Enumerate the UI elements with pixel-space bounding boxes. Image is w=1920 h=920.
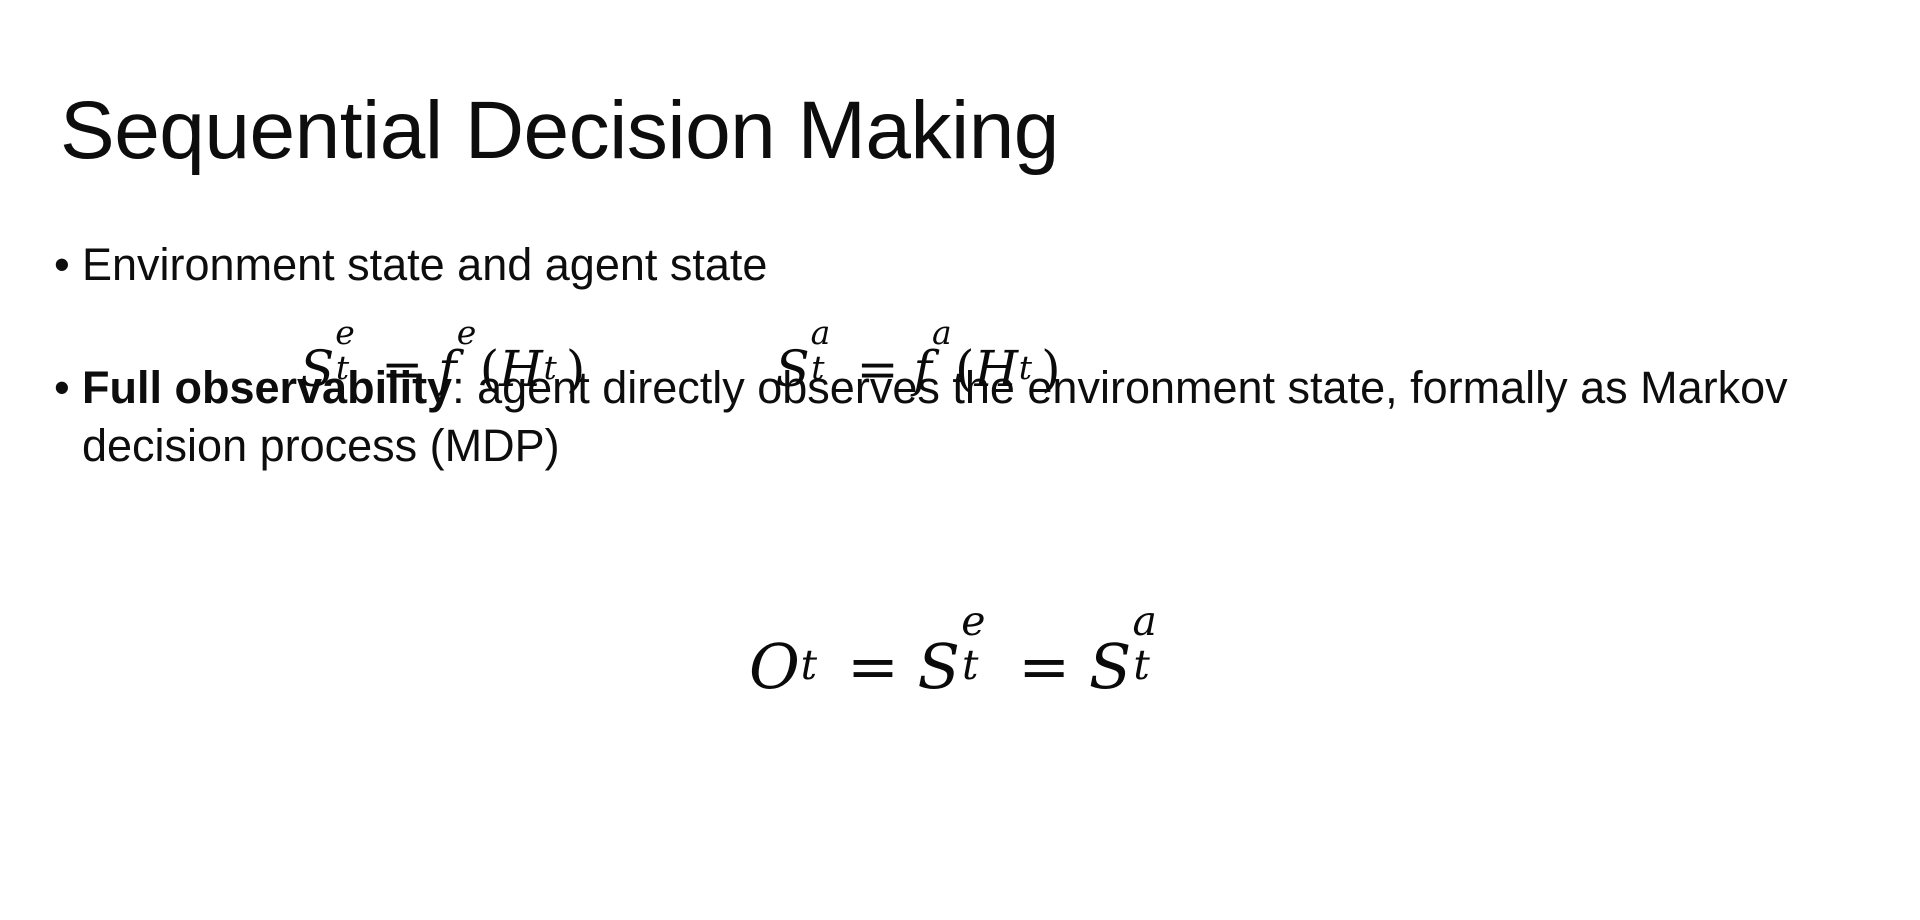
eq-lhs-subscript: t bbox=[336, 351, 349, 384]
page-title: Sequential Decision Making bbox=[60, 83, 1840, 180]
eq-rhs-function: f bbox=[914, 340, 933, 398]
equation-row-full-observability: Ot=Set=Sat bbox=[0, 626, 1920, 698]
eq-open-paren: ( bbox=[480, 340, 500, 398]
eq-observation-scripts: t bbox=[800, 626, 829, 688]
eq-operator-equals-2: = bbox=[1018, 630, 1070, 703]
bullet-text-environment-agent-state: Environment state and agent state bbox=[82, 236, 1834, 295]
slide-canvas: Sequential Decision Making • Environment… bbox=[0, 0, 1920, 920]
eq-lhs-scripts: et bbox=[335, 336, 366, 386]
eq-env-scripts: et bbox=[961, 626, 999, 688]
eq-env-base: S bbox=[918, 630, 960, 703]
eq-lhs-superscript: e bbox=[335, 316, 355, 349]
eq-agent-base: S bbox=[1089, 630, 1131, 703]
eq-operator-equals: = bbox=[381, 340, 423, 398]
eq-open-paren: ( bbox=[955, 340, 975, 398]
bullet-point-icon: • bbox=[50, 236, 82, 295]
eq-rhs-function: f bbox=[438, 340, 457, 398]
eq-arg-scripts: t bbox=[543, 336, 566, 386]
eq-arg-subscript: t bbox=[543, 351, 556, 384]
bullet-point-icon: • bbox=[50, 359, 82, 418]
eq-lhs-base: S bbox=[775, 340, 809, 398]
equation-full-observability: Ot=Set=Sat bbox=[749, 626, 1171, 698]
eq-agent-subscript: t bbox=[1133, 645, 1149, 686]
bullet-item-environment-agent-state: • Environment state and agent state bbox=[50, 236, 1850, 295]
eq-rhs-function-scripts: a bbox=[932, 336, 955, 386]
eq-arg-subscript: t bbox=[1019, 351, 1032, 384]
eq-operator-equals: = bbox=[857, 340, 899, 398]
eq-agent-superscript: a bbox=[1133, 601, 1157, 642]
equation-row-state-definitions: Set=fe(Ht) Sat=fa(Ht) bbox=[300, 336, 1700, 394]
eq-observation-subscript: t bbox=[801, 645, 817, 686]
eq-lhs-subscript: t bbox=[811, 351, 824, 384]
eq-agent-scripts: at bbox=[1133, 626, 1171, 688]
eq-arg-base: H bbox=[499, 340, 543, 398]
eq-arg-scripts: t bbox=[1018, 336, 1041, 386]
eq-lhs-scripts: at bbox=[811, 336, 842, 386]
eq-env-superscript: e bbox=[961, 601, 985, 642]
eq-rhs-superscript: a bbox=[932, 316, 952, 349]
eq-operator-equals-1: = bbox=[847, 630, 899, 703]
eq-env-subscript: t bbox=[962, 645, 978, 686]
equation-agent-state: Sat=fa(Ht) bbox=[775, 336, 1060, 394]
eq-observation-base: O bbox=[749, 630, 800, 703]
eq-close-paren: ) bbox=[566, 340, 586, 398]
eq-arg-base: H bbox=[975, 340, 1019, 398]
eq-lhs-base: S bbox=[300, 340, 334, 398]
eq-rhs-function-scripts: e bbox=[457, 336, 480, 386]
equation-environment-state: Set=fe(Ht) bbox=[300, 336, 585, 394]
eq-rhs-superscript: e bbox=[457, 316, 477, 349]
eq-close-paren: ) bbox=[1041, 340, 1061, 398]
eq-lhs-superscript: a bbox=[811, 316, 831, 349]
